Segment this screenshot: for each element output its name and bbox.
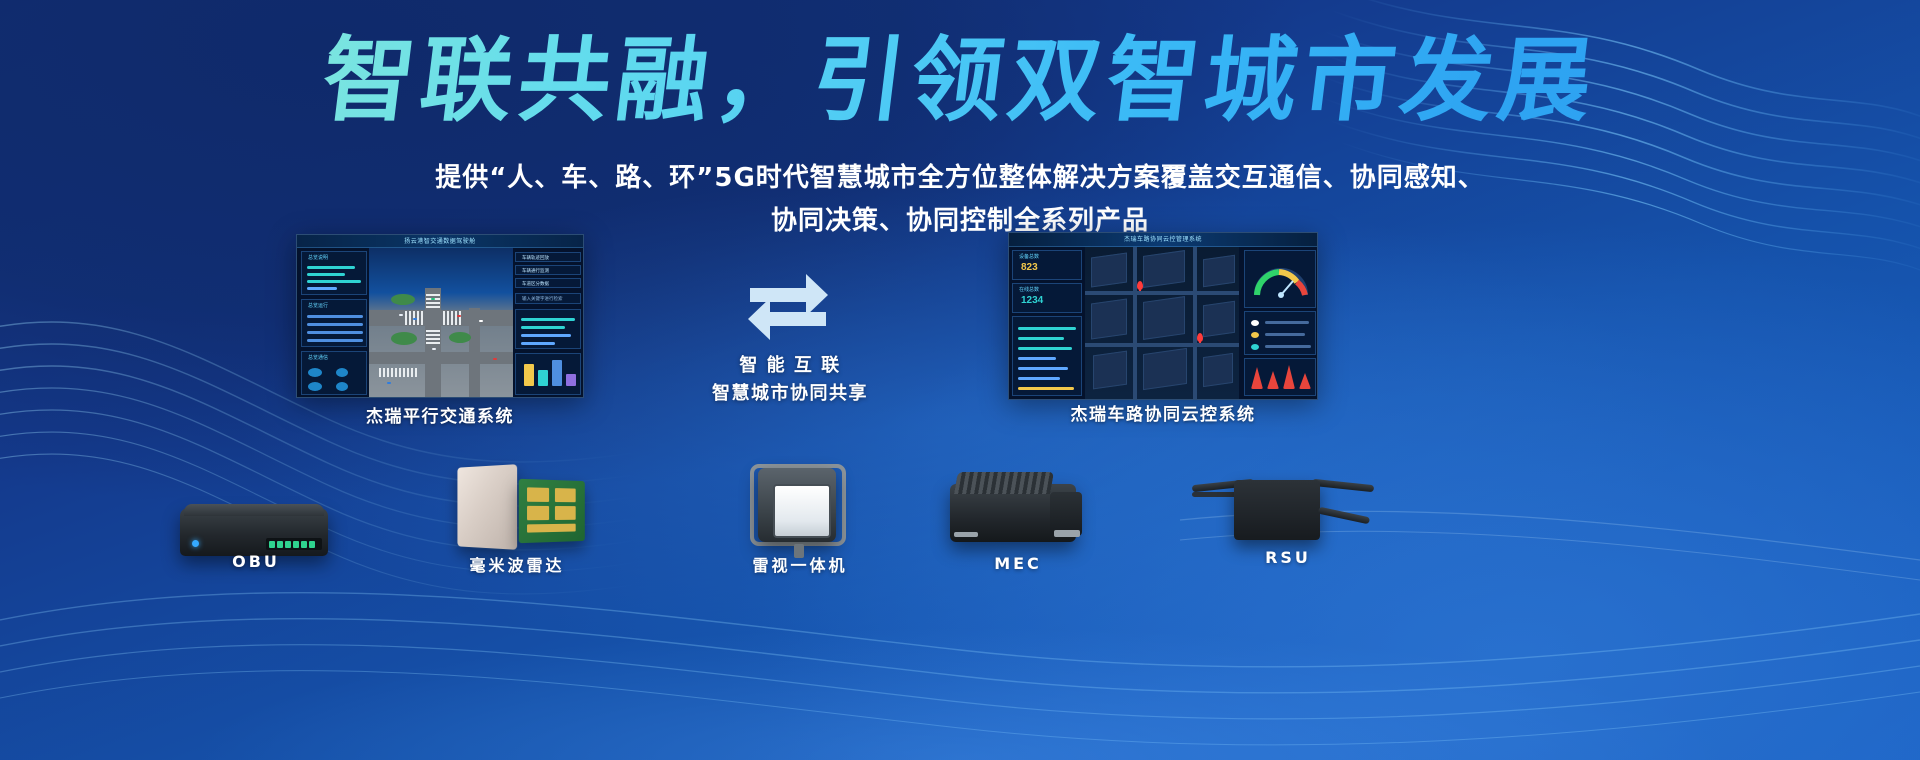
product-mmwave-radar[interactable] (455, 466, 595, 558)
stat-label: 在线总数 (1019, 286, 1039, 293)
product-mec[interactable] (950, 472, 1086, 554)
panel-traffic-overview[interactable]: 总览说明 (301, 251, 367, 295)
rsu-device-icon (1234, 480, 1320, 540)
panel-device-list[interactable] (1012, 316, 1082, 396)
cloud-control-dashboard[interactable]: 杰瑞车路协同云控管理系统 设备总数 823 在线总数 1234 (1008, 232, 1318, 400)
traffic-3d-scene (369, 248, 513, 397)
rsu-antenna-right (1312, 479, 1374, 492)
panel-traffic-comm[interactable]: 总览通信 (301, 351, 367, 395)
stat-device-total[interactable]: 设备总数 823 (1012, 250, 1082, 280)
button-vehicle-monitor[interactable]: 车辆通行监测 (515, 265, 581, 275)
product-label-lidar-camera: 雷视一体机 (700, 552, 900, 576)
mec-heatsink-fins (954, 472, 1054, 494)
banner-stage: 智联共融，引领双智城市发展 提供“人、车、路、环”5G时代智慧城市全方位整体解决… (0, 0, 1920, 760)
camera-lens-panel (773, 484, 831, 538)
page-title: 智联共融，引领双智城市发展 (0, 28, 1920, 134)
button-label: 车辆通行监测 (522, 268, 549, 274)
parallel-traffic-dashboard[interactable]: 扬云港智交通数据驾驶舱 总览说明 (296, 234, 584, 398)
obu-top-shell (184, 504, 324, 516)
radar-device-icon (457, 464, 517, 550)
button-lane-data[interactable]: 车道区分数据 (515, 278, 581, 288)
stat-online-total[interactable]: 在线总数 1234 (1012, 283, 1082, 313)
product-label-obu: OBU (156, 552, 356, 571)
stat-label: 设备总数 (1019, 253, 1039, 260)
button-label: 车道区分数据 (522, 281, 549, 287)
panel-title: 总览通信 (308, 354, 328, 361)
product-label-rsu: RSU (1188, 548, 1388, 567)
panel-title: 总览运行 (308, 302, 328, 309)
panel-title: 总览说明 (308, 254, 328, 261)
obu-status-led (192, 540, 199, 547)
subtitle-line-1: 提供“人、车、路、环”5G时代智慧城市全方位整体解决方案覆盖交互通信、协同感知、 (0, 157, 1920, 194)
button-track-playback[interactable]: 车辆轨迹回放 (515, 252, 581, 262)
search-input[interactable]: 输入关键字进行检索 (515, 293, 581, 304)
parallel-traffic-caption: 杰瑞平行交通系统 (296, 402, 584, 427)
center-caption-line-1: 智 能 互 联 (640, 352, 940, 380)
button-label: 车辆轨迹回放 (522, 255, 549, 261)
panel-right-chart[interactable] (515, 309, 581, 349)
center-caption: 智 能 互 联 智慧城市协同共享 (640, 352, 940, 408)
city-map-3d[interactable] (1085, 247, 1239, 399)
dashboard-screen-title: 扬云港智交通数据驾驶舱 (404, 236, 476, 245)
radar-pcb-board (519, 479, 585, 543)
panel-traffic-runtime[interactable]: 总览运行 (301, 299, 367, 347)
cloud-control-caption: 杰瑞车路协同云控系统 (1008, 400, 1318, 425)
stat-value: 1234 (1021, 295, 1043, 306)
dashboard-screen-title: 杰瑞车路协同云控管理系统 (1124, 234, 1202, 243)
product-rsu[interactable] (1192, 472, 1376, 552)
panel-bar-chart[interactable] (1244, 358, 1316, 396)
product-lidar-camera[interactable] (750, 462, 850, 560)
product-label-mec: MEC (918, 554, 1118, 573)
panel-right-gauge[interactable] (515, 353, 581, 395)
exchange-arrows-icon (744, 272, 832, 344)
product-label-mmwave-radar: 毫米波雷达 (417, 552, 617, 576)
gauge-icon (1245, 251, 1317, 309)
panel-legend[interactable] (1244, 311, 1316, 355)
search-placeholder: 输入关键字进行检索 (522, 296, 563, 302)
obu-ports (266, 538, 322, 550)
camera-radar-device-icon (758, 468, 836, 542)
rsu-antenna-lower (1318, 507, 1370, 525)
center-caption-line-2: 智慧城市协同共享 (640, 380, 940, 408)
stat-value: 823 (1021, 262, 1038, 273)
panel-gauge[interactable] (1244, 250, 1316, 308)
subtitle-line-2: 协同决策、协同控制全系列产品 (0, 200, 1920, 237)
